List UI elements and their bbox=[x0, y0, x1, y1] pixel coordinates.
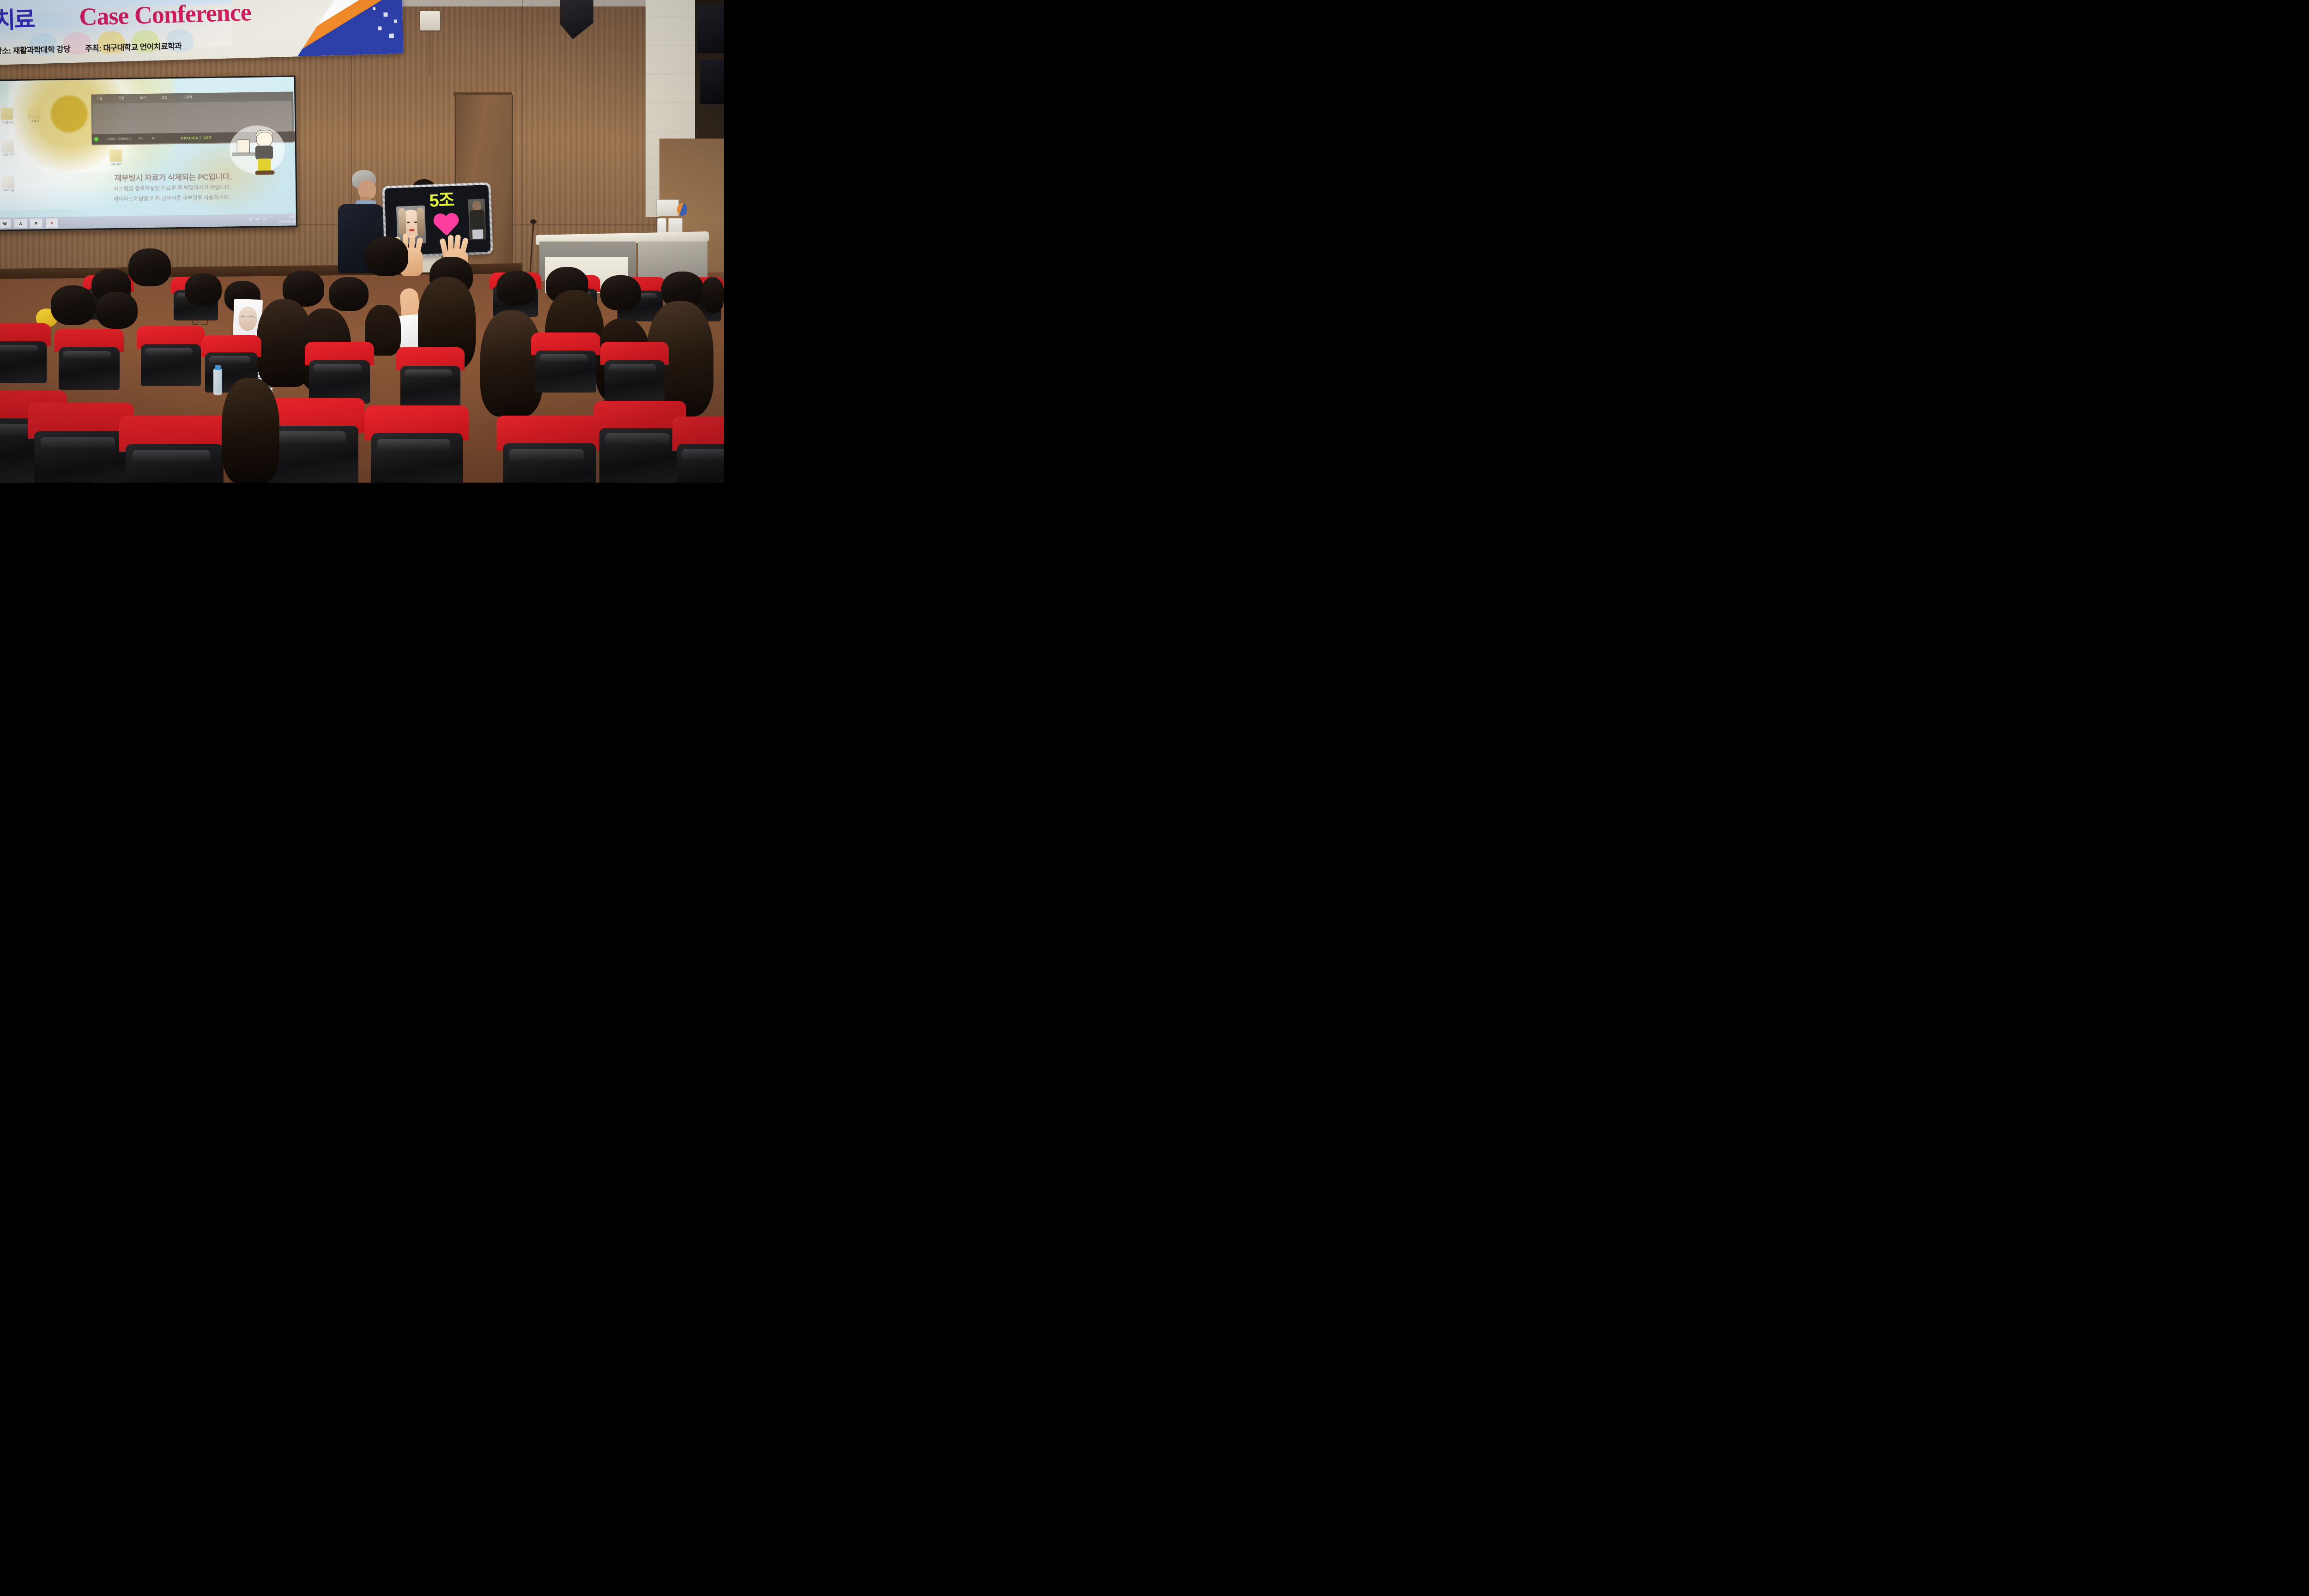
desktop-icon-label-3: 프로그램 bbox=[0, 189, 25, 193]
desktop-icon-label-2: 바로 가기 bbox=[0, 154, 24, 157]
clock-time: 5:01 bbox=[279, 215, 296, 219]
audience-head bbox=[365, 236, 408, 276]
desktop-icon-1[interactable] bbox=[28, 106, 40, 118]
taskbar-button-1[interactable]: A bbox=[14, 218, 27, 229]
bottle-cap-icon bbox=[215, 365, 221, 370]
menu-item-2[interactable]: 보기 bbox=[140, 96, 146, 101]
network-icon[interactable]: ▤ bbox=[249, 218, 252, 222]
seat-row3-f[interactable] bbox=[496, 416, 603, 483]
menu-item-4[interactable]: 도움말 bbox=[183, 95, 192, 101]
seat-row2-e[interactable] bbox=[305, 342, 374, 404]
taskbar-clock[interactable]: 5:01 2016-05-26 bbox=[279, 215, 296, 224]
wall-seam bbox=[522, 0, 523, 277]
desktop-icon-3[interactable] bbox=[2, 175, 14, 187]
small-balloon bbox=[677, 203, 687, 216]
placard-group-number: 5조 bbox=[429, 192, 454, 210]
placard-hair-right bbox=[417, 207, 425, 236]
seat-row2-f[interactable] bbox=[396, 347, 465, 408]
banner-wave-graphic bbox=[296, 0, 404, 56]
banner-square bbox=[378, 26, 381, 30]
audience-head bbox=[51, 285, 95, 325]
sensor-cable bbox=[429, 30, 430, 76]
computer-user-cartoon-icon bbox=[229, 125, 290, 177]
seat-row3-c[interactable] bbox=[119, 416, 230, 483]
shield-icon[interactable]: ◆ bbox=[256, 218, 259, 222]
seat-row2-b[interactable] bbox=[54, 329, 124, 390]
audience-head bbox=[496, 271, 536, 306]
audience-long-hair bbox=[222, 378, 279, 483]
audience-head bbox=[701, 277, 724, 313]
projection-screen: 내 컴퓨터 새 폴더 바로 가기 프로그램 바탕화면 파일 편집 보기 설정 도… bbox=[0, 77, 296, 230]
connection-status-led-icon bbox=[95, 137, 98, 141]
seat-row2-a[interactable] bbox=[0, 323, 51, 383]
desktop-icon-2[interactable] bbox=[1, 140, 13, 152]
notice-line-2: 시스템을 종료하실땐 자료를 꼭 백업하시기 바랍니다. bbox=[114, 183, 231, 193]
volume-icon[interactable]: ◖ bbox=[243, 218, 245, 222]
wall-sensor-box bbox=[420, 11, 440, 30]
audience-head bbox=[128, 248, 171, 286]
desktop-icon-label-4: 바탕화면 bbox=[100, 163, 133, 167]
gooseneck-microphone bbox=[530, 219, 537, 224]
notice-line-1: 재부팅시 자료가 삭제되는 PC입니다. bbox=[115, 170, 232, 183]
seat-row2-g[interactable] bbox=[531, 332, 600, 393]
tx-label: Tx bbox=[151, 137, 155, 140]
windows-taskbar[interactable]: W A P P ◖ ▤ ◆ 가 5:01 2016-05-26 bbox=[0, 213, 296, 230]
seat-row3-e[interactable] bbox=[365, 405, 469, 483]
seat-row3-h[interactable] bbox=[672, 417, 724, 483]
desktop-icon-4[interactable] bbox=[109, 150, 121, 162]
light-switch-panel[interactable] bbox=[656, 199, 679, 216]
audience-head bbox=[600, 275, 641, 310]
ime-icon[interactable]: 가 bbox=[263, 217, 266, 222]
taskbar-button-0[interactable]: W bbox=[0, 218, 12, 229]
banner-location: 장소: 재활과학대학 강당 bbox=[0, 45, 71, 56]
clock-date: 2016-05-26 bbox=[279, 219, 296, 224]
serial-port-status: COM1 57600,8,1 bbox=[107, 137, 131, 141]
desktop-icon-label-1: 새 폴더 bbox=[18, 120, 51, 124]
menu-item-0[interactable]: 파일 bbox=[97, 96, 103, 102]
notice-line-3: 바이러스예방을 위해 컴퓨터를 재부팅후 사용하세요. bbox=[114, 193, 230, 203]
auditorium-scene: 학생이 행복한 대학 대구대학교 언어치료 Case Conference 후 … bbox=[0, 0, 724, 483]
audience-head bbox=[96, 292, 138, 329]
seat-row3-b[interactable] bbox=[28, 403, 134, 483]
desktop-icon-0[interactable] bbox=[1, 108, 13, 120]
taskbar-button-powerpoint[interactable]: P bbox=[45, 218, 59, 228]
system-tray[interactable]: ◖ ▤ ◆ 가 bbox=[243, 217, 266, 222]
banner-korean-title: 언어치료 bbox=[0, 1, 34, 36]
project-set-label: PROJECT SET bbox=[181, 135, 212, 140]
banner-square bbox=[394, 19, 397, 23]
menu-item-3[interactable]: 설정 bbox=[162, 95, 168, 101]
taskbar-button-2[interactable]: P bbox=[30, 218, 43, 228]
wall-speaker-right-lower bbox=[697, 5, 724, 53]
audience-head bbox=[185, 273, 222, 306]
audience-glasses-icon bbox=[192, 319, 208, 324]
water-bottle[interactable] bbox=[213, 369, 222, 395]
seat-row2-h[interactable] bbox=[600, 342, 669, 403]
banner-square bbox=[389, 34, 394, 38]
wall-speaker-right-lower-2 bbox=[700, 60, 724, 104]
banner-english-title: Case Conference bbox=[79, 0, 252, 31]
banner-square bbox=[373, 7, 375, 10]
rx-label: Rx bbox=[139, 137, 144, 140]
audience-head bbox=[329, 277, 369, 311]
seat-row2-c[interactable] bbox=[137, 326, 205, 386]
banner-square bbox=[383, 12, 387, 17]
menu-item-1[interactable]: 편집 bbox=[118, 96, 124, 102]
projection-screen-frame: 내 컴퓨터 새 폴더 바로 가기 프로그램 바탕화면 파일 편집 보기 설정 도… bbox=[0, 75, 297, 231]
placard-hair-left bbox=[398, 208, 406, 235]
university-logo-block: 학생이 행복한 대학 대구대학교 bbox=[246, 0, 343, 0]
